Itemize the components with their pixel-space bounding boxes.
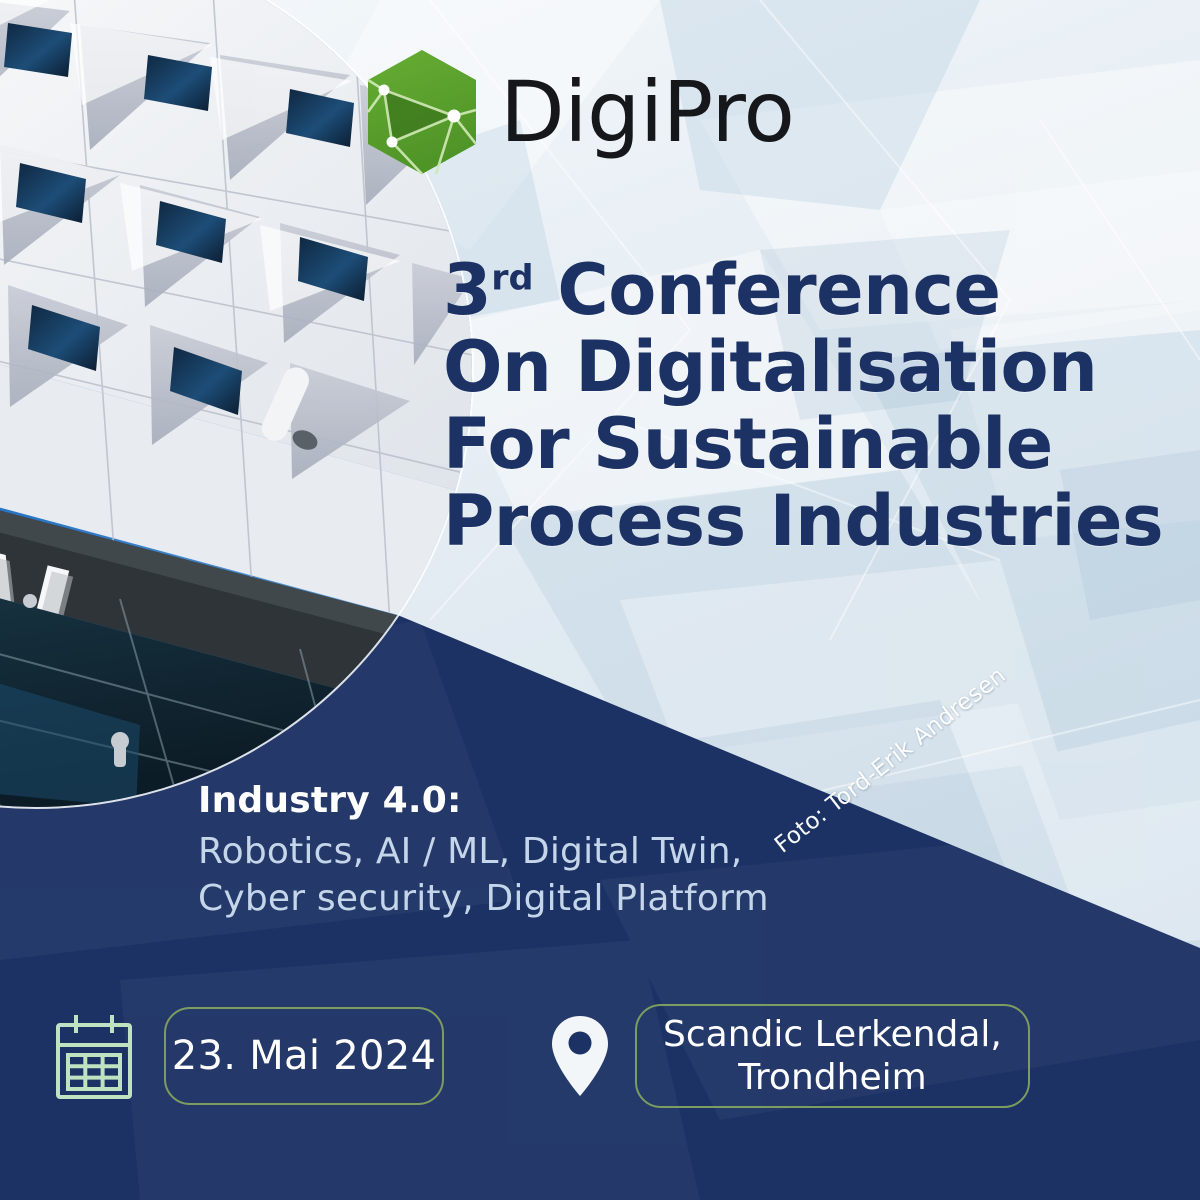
title-line-4: Process Industries [443, 483, 1163, 560]
event-info-row: 23. Mai 2024 Scandic Lerkendal, Trondhei… [0, 1004, 1200, 1108]
conference-poster: KENDAL KENDAL [0, 0, 1200, 1200]
title-line-2: On Digitalisation [443, 329, 1163, 406]
title-ordinal-suffix: rd [491, 259, 533, 299]
topics-title: Industry 4.0: [198, 778, 769, 825]
hexagon-network-icon [362, 46, 482, 178]
digipro-logo: DigiPro [362, 46, 794, 178]
page-title: 3rd Conference On Digitalisation For Sus… [443, 252, 1163, 560]
event-date-item: 23. Mai 2024 [52, 1007, 444, 1105]
event-venue-pill[interactable]: Scandic Lerkendal, Trondheim [635, 1004, 1030, 1108]
calendar-icon [52, 1011, 136, 1101]
map-pin-icon [549, 1014, 611, 1098]
event-date-pill[interactable]: 23. Mai 2024 [164, 1007, 444, 1105]
title-line-1: 3rd Conference [443, 252, 1163, 329]
venue-line-1: Scandic Lerkendal, [663, 1013, 1002, 1056]
logo-wordmark: DigiPro [500, 70, 794, 154]
topics-line-1: Robotics, AI / ML, Digital Twin, [198, 829, 769, 876]
venue-line-2: Trondheim [663, 1056, 1002, 1099]
title-number: 3 [443, 249, 491, 331]
event-venue-item: Scandic Lerkendal, Trondheim [549, 1004, 1030, 1108]
topics-block: Industry 4.0: Robotics, AI / ML, Digital… [198, 778, 769, 922]
title-line-3: For Sustainable [443, 406, 1163, 483]
title-line-1-rest: Conference [534, 249, 1001, 331]
topics-line-2: Cyber security, Digital Platform [198, 876, 769, 923]
